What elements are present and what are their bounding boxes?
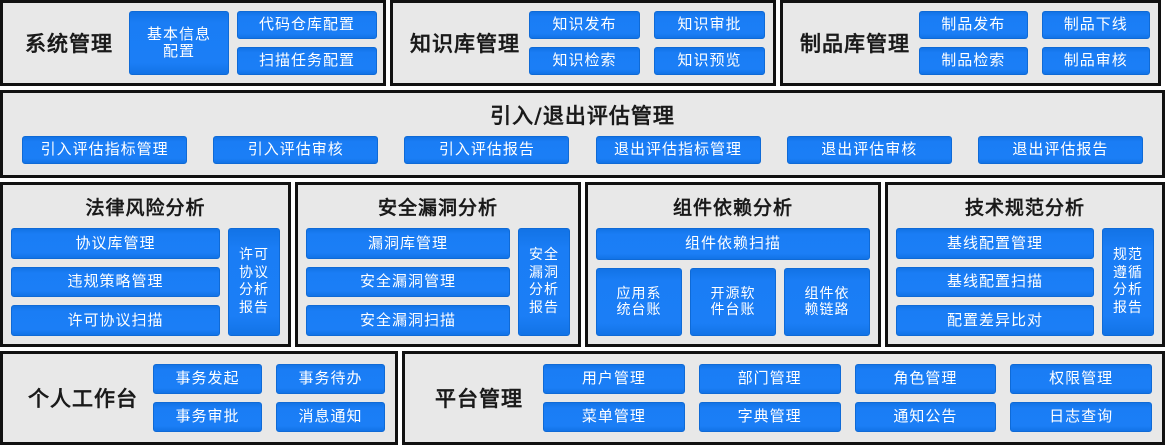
panel-personal-workbench: 个人工作台 事务发起 事务待办 事务审批 消息通知 — [0, 351, 398, 445]
button-role-management[interactable]: 角色管理 — [855, 364, 997, 394]
button-product-publish[interactable]: 制品发布 — [919, 11, 1028, 39]
panel-product-library-management: 制品库管理 制品发布 制品下线 制品检索 制品审核 — [780, 0, 1161, 86]
button-security-vulnerability-mgmt[interactable]: 安全漏洞管理 — [306, 267, 510, 298]
panel-title-security-vulnerability-analysis: 安全漏洞分析 — [306, 193, 570, 220]
row-bottom-modules: 个人工作台 事务发起 事务待办 事务审批 消息通知 平台管理 用户管理 部门管理… — [0, 351, 1165, 445]
button-application-system-ledger[interactable]: 应用系 统台账 — [596, 268, 682, 336]
panel-component-dependency-analysis: 组件依赖分析 组件依赖扫描 应用系 统台账 开源软 件台账 组件依 赖链路 — [585, 182, 881, 347]
panel-title-platform-management: 平台管理 — [415, 383, 543, 413]
button-log-query[interactable]: 日志查询 — [1010, 402, 1152, 432]
row-evaluation-management: 引入/退出评估管理 引入评估指标管理 引入评估审核 引入评估报告 退出评估指标管… — [0, 90, 1165, 178]
button-entry-eval-report[interactable]: 引入评估报告 — [404, 136, 569, 164]
panel-title-personal-workbench: 个人工作台 — [13, 383, 153, 413]
button-code-repo-config[interactable]: 代码仓库配置 — [237, 11, 377, 39]
button-config-difference-compare[interactable]: 配置差异比对 — [896, 305, 1094, 336]
panel-legal-risk-analysis: 法律风险分析 协议库管理 违规策略管理 许可协议扫描 许可 协议 分析 报告 — [0, 182, 291, 347]
button-transaction-todo[interactable]: 事务待办 — [276, 364, 385, 394]
button-permission-management[interactable]: 权限管理 — [1010, 364, 1152, 394]
button-product-search[interactable]: 制品检索 — [919, 47, 1028, 75]
button-baseline-config-mgmt[interactable]: 基线配置管理 — [896, 228, 1094, 259]
button-knowledge-publish[interactable]: 知识发布 — [529, 11, 640, 39]
button-basic-info-config[interactable]: 基本信息 配置 — [129, 11, 229, 75]
button-exit-eval-review[interactable]: 退出评估审核 — [787, 136, 952, 164]
button-exit-eval-indicator-mgmt[interactable]: 退出评估指标管理 — [596, 136, 761, 164]
button-open-source-software-ledger[interactable]: 开源软 件台账 — [690, 268, 776, 336]
button-license-analysis-report[interactable]: 许可 协议 分析 报告 — [228, 228, 280, 336]
panel-system-management: 系统管理 基本信息 配置 代码仓库配置 扫描任务配置 — [0, 0, 386, 86]
button-exit-eval-report[interactable]: 退出评估报告 — [978, 136, 1143, 164]
button-component-dependency-scan[interactable]: 组件依赖扫描 — [596, 228, 870, 260]
button-baseline-config-scan[interactable]: 基线配置扫描 — [896, 267, 1094, 298]
panel-knowledge-base-management: 知识库管理 知识发布 知识审批 知识检索 知识预览 — [390, 0, 776, 86]
panel-title-system-management: 系统管理 — [9, 28, 129, 58]
button-product-offline[interactable]: 制品下线 — [1042, 11, 1151, 39]
panel-entry-exit-evaluation: 引入/退出评估管理 引入评估指标管理 引入评估审核 引入评估报告 退出评估指标管… — [0, 90, 1165, 178]
button-user-management[interactable]: 用户管理 — [543, 364, 685, 394]
button-transaction-initiate[interactable]: 事务发起 — [153, 364, 262, 394]
row-analysis-modules: 法律风险分析 协议库管理 违规策略管理 许可协议扫描 许可 协议 分析 报告 安… — [0, 182, 1165, 347]
button-violation-policy-mgmt[interactable]: 违规策略管理 — [11, 267, 220, 298]
panel-title-knowledge-base: 知识库管理 — [401, 28, 529, 58]
panel-platform-management: 平台管理 用户管理 部门管理 角色管理 权限管理 菜单管理 字典管理 通知公告 … — [402, 351, 1165, 445]
button-entry-eval-review[interactable]: 引入评估审核 — [213, 136, 378, 164]
button-product-audit[interactable]: 制品审核 — [1042, 47, 1151, 75]
button-security-analysis-report[interactable]: 安全 漏洞 分析 报告 — [518, 228, 570, 336]
panel-title-component-dependency-analysis: 组件依赖分析 — [596, 193, 870, 220]
button-notice-announcement[interactable]: 通知公告 — [855, 402, 997, 432]
button-dictionary-management[interactable]: 字典管理 — [699, 402, 841, 432]
button-message-notification[interactable]: 消息通知 — [276, 402, 385, 432]
button-license-agreement-scan[interactable]: 许可协议扫描 — [11, 305, 220, 336]
button-security-vulnerability-scan[interactable]: 安全漏洞扫描 — [306, 305, 510, 336]
panel-technical-specification-analysis: 技术规范分析 基线配置管理 基线配置扫描 配置差异比对 规范 遵循 分析 报告 — [885, 182, 1165, 347]
button-transaction-approval[interactable]: 事务审批 — [153, 402, 262, 432]
panel-title-entry-exit-evaluation: 引入/退出评估管理 — [490, 100, 675, 130]
button-specification-compliance-report[interactable]: 规范 遵循 分析 报告 — [1102, 228, 1154, 336]
button-knowledge-search[interactable]: 知识检索 — [529, 47, 640, 75]
panel-security-vulnerability-analysis: 安全漏洞分析 漏洞库管理 安全漏洞管理 安全漏洞扫描 安全 漏洞 分析 报告 — [295, 182, 581, 347]
button-menu-management[interactable]: 菜单管理 — [543, 402, 685, 432]
row-top-modules: 系统管理 基本信息 配置 代码仓库配置 扫描任务配置 知识库管理 知识发布 知识… — [0, 0, 1165, 86]
panel-title-technical-specification-analysis: 技术规范分析 — [896, 193, 1154, 220]
button-entry-eval-indicator-mgmt[interactable]: 引入评估指标管理 — [22, 136, 187, 164]
panel-title-product-library: 制品库管理 — [791, 28, 919, 58]
architecture-diagram: 系统管理 基本信息 配置 代码仓库配置 扫描任务配置 知识库管理 知识发布 知识… — [0, 0, 1165, 447]
button-knowledge-preview[interactable]: 知识预览 — [654, 47, 765, 75]
panel-title-legal-risk-analysis: 法律风险分析 — [11, 193, 280, 220]
button-scan-task-config[interactable]: 扫描任务配置 — [237, 47, 377, 75]
button-vulnerability-library-mgmt[interactable]: 漏洞库管理 — [306, 228, 510, 259]
button-knowledge-approval[interactable]: 知识审批 — [654, 11, 765, 39]
button-agreement-library-mgmt[interactable]: 协议库管理 — [11, 228, 220, 259]
button-department-management[interactable]: 部门管理 — [699, 364, 841, 394]
button-component-dependency-chain[interactable]: 组件依 赖链路 — [784, 268, 870, 336]
